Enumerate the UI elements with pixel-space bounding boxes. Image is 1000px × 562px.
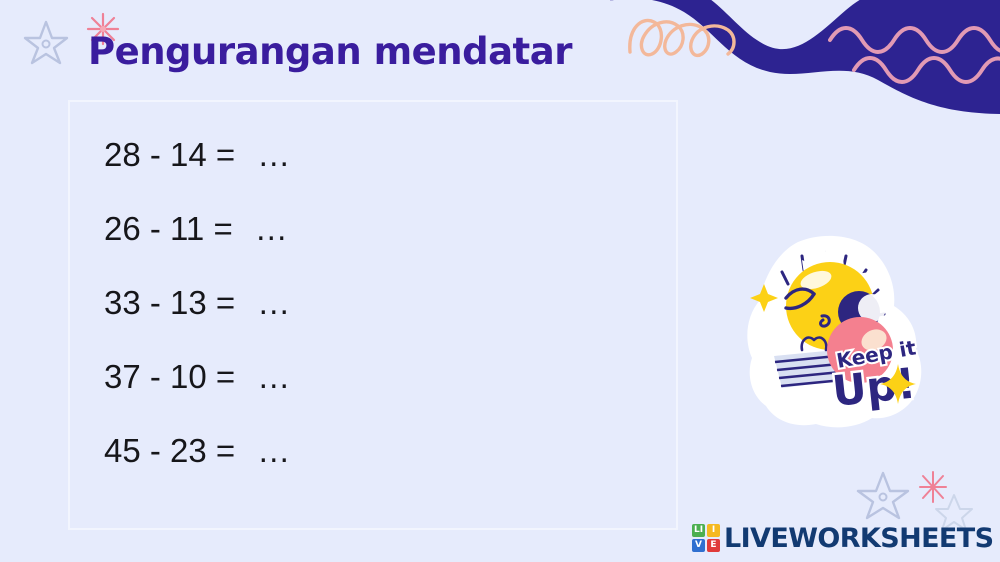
worksheet-page: Pengurangan mendatar 28 - 14 = … 26 - 11… xyxy=(0,0,1000,562)
problem-row: 33 - 13 = … xyxy=(104,266,524,340)
logo-wordmark: LIVEWORKSHEETS xyxy=(724,523,993,554)
problem-expression: 33 - 13 = xyxy=(104,284,235,322)
logo-tile-i: I xyxy=(707,524,720,537)
problem-list: 28 - 14 = … 26 - 11 = … 33 - 13 = … 37 -… xyxy=(104,118,524,488)
problem-answer-blank[interactable]: … xyxy=(255,210,289,248)
problem-expression: 26 - 11 = xyxy=(104,210,233,248)
problem-answer-blank[interactable]: … xyxy=(257,432,291,470)
star-outline-icon xyxy=(22,18,70,66)
star-outline-icon-bottom xyxy=(855,470,911,520)
logo-tile-grid: LI I V E xyxy=(692,524,720,552)
logo-tile-e: E xyxy=(707,539,720,552)
problem-expression: 37 - 10 = xyxy=(104,358,235,396)
problem-answer-blank[interactable]: … xyxy=(257,136,291,174)
problem-expression: 45 - 23 = xyxy=(104,432,235,470)
problem-row: 26 - 11 = … xyxy=(104,192,524,266)
problem-row: 45 - 23 = … xyxy=(104,414,524,488)
orange-curl-squiggles xyxy=(624,6,774,68)
logo-tile-v: V xyxy=(692,539,705,552)
pink-wavy-lines xyxy=(828,22,1000,92)
problem-expression: 28 - 14 = xyxy=(104,136,235,174)
problem-answer-blank[interactable]: … xyxy=(257,284,291,322)
page-title: Pengurangan mendatar xyxy=(88,30,572,73)
problem-row: 28 - 14 = … xyxy=(104,118,524,192)
problem-answer-blank[interactable]: … xyxy=(257,358,291,396)
keep-it-up-sticker: Keep it Up! xyxy=(726,228,936,438)
logo-tile-li: LI xyxy=(692,524,705,537)
problem-row: 37 - 10 = … xyxy=(104,340,524,414)
liveworksheets-logo[interactable]: LI I V E LIVEWORKSHEETS xyxy=(692,521,993,555)
sparkle-burst-icon-bottom xyxy=(918,470,948,504)
purple-blob-shape xyxy=(610,0,1000,114)
